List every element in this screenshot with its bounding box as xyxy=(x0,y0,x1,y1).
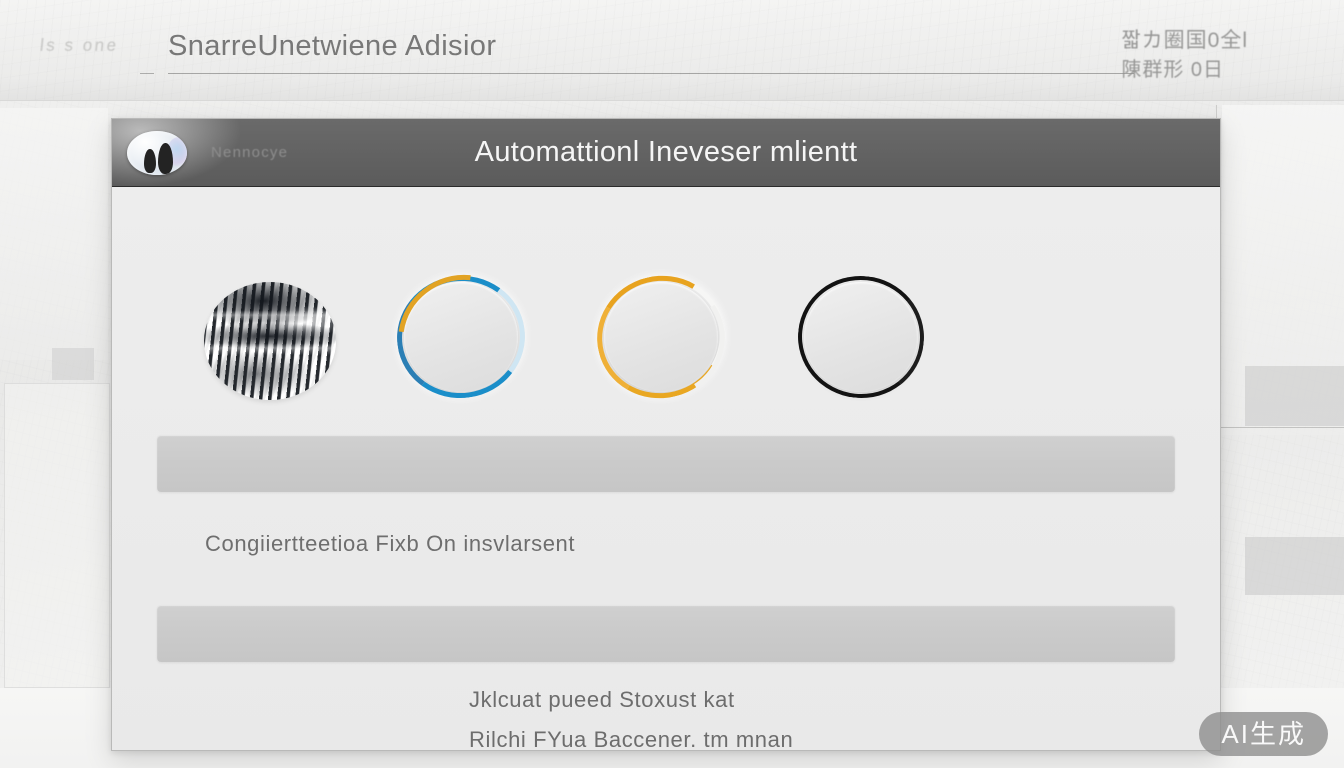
circle-row xyxy=(112,282,1220,400)
circle-item-4[interactable] xyxy=(804,282,936,400)
ring-black-icon xyxy=(792,270,930,405)
logo-sheen xyxy=(167,137,187,167)
cjk-line-1: 짧カ圈国0全l xyxy=(1121,26,1248,56)
ring-orange-accent-icon xyxy=(586,264,737,410)
background-header-title: SnarreUnetwiene Adisior xyxy=(168,30,496,63)
background-header-band: ls s one SnarreUnetwiene Adisior 짧カ圈国0全l… xyxy=(0,0,1344,101)
placeholder-bar-1[interactable] xyxy=(157,435,1175,492)
background-divider-horizontal xyxy=(1216,427,1344,428)
background-swatch-1 xyxy=(52,348,94,380)
thumbnail-textured-icon xyxy=(204,282,336,400)
app-subtitle-label: Nennocye xyxy=(211,144,288,161)
thumb-texture-layer-3 xyxy=(204,282,336,400)
background-panel-left-tall xyxy=(4,383,110,688)
placeholder-bar-2[interactable] xyxy=(157,605,1175,662)
header-divider-rule xyxy=(168,73,1134,74)
desktop-canvas: ls s one SnarreUnetwiene Adisior 짧カ圈国0全l… xyxy=(0,0,1344,768)
section-label: Congiiertteetioa Fixb On insvlarsent xyxy=(205,531,575,557)
cjk-line-2: 陳群形 0日 xyxy=(1121,56,1248,84)
list-block: Jklcuat pueed Stoxust kat Rilchi FYua Ba… xyxy=(469,687,793,751)
background-swatch-2 xyxy=(1245,366,1344,426)
background-swatch-3 xyxy=(1245,537,1344,595)
circle-item-2[interactable] xyxy=(404,282,536,400)
dialog-titlebar[interactable]: Nennocye Automattionl Ineveser mlientt xyxy=(112,119,1220,187)
circle-item-1[interactable] xyxy=(204,282,336,400)
dialog-window: Nennocye Automattionl Ineveser mlientt xyxy=(111,118,1221,751)
list-item: Jklcuat pueed Stoxust kat xyxy=(469,687,793,713)
ai-generated-watermark: AI生成 xyxy=(1199,712,1328,756)
dialog-body: Congiiertteetioa Fixb On insvlarsent Jkl… xyxy=(112,187,1220,751)
header-rule-stub xyxy=(140,73,154,74)
ring-blue-accent-icon xyxy=(373,250,549,425)
background-header-scribble: ls s one xyxy=(39,36,120,56)
background-panel-left xyxy=(0,108,108,360)
app-oval-logo-icon xyxy=(127,131,187,175)
background-header-cjk-text: 짧カ圈国0全l 陳群形 0日 xyxy=(1121,26,1248,84)
circle-item-3[interactable] xyxy=(604,282,736,400)
list-item: Rilchi FYua Baccener. tm mnan xyxy=(469,727,793,751)
